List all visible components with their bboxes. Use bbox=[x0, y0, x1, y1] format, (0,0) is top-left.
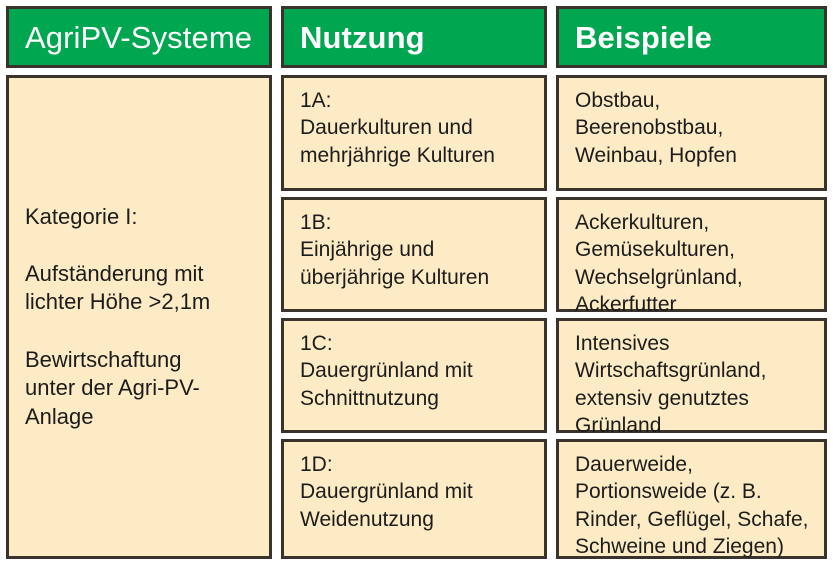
examples-text-1a: Obstbau, Beerenobstbau, Weinbau, Hopfen bbox=[559, 78, 824, 169]
header-label-nutzung: Nutzung bbox=[284, 22, 425, 53]
table-row-1c-examples-cell: Intensives Wirtschaftsgrünland, extensiv… bbox=[556, 318, 827, 433]
usage-text-1c: 1C: Dauergrünland mit Schnittnutzung bbox=[284, 321, 544, 412]
examples-text-1d: Dauerweide, Portionsweide (z. B. Rinder,… bbox=[559, 442, 824, 560]
table-row-1a-usage-cell: 1A: Dauerkulturen und mehrjährige Kultur… bbox=[281, 75, 547, 191]
table-row-1d-usage-cell: 1D: Dauergrünland mit Weidenutzung bbox=[281, 439, 547, 559]
header-label-beispiele: Beispiele bbox=[559, 22, 712, 53]
table-row-1b-usage-cell: 1B: Einjährige und überjährige Kulturen bbox=[281, 197, 547, 312]
header-cell-beispiele: Beispiele bbox=[556, 6, 827, 68]
usage-text-1d: 1D: Dauergrünland mit Weidenutzung bbox=[284, 442, 544, 533]
usage-text-1b: 1B: Einjährige und überjährige Kulturen bbox=[284, 200, 544, 291]
examples-text-1b: Ackerkulturen, Gemüsekulturen, Wechselgr… bbox=[559, 200, 824, 318]
usage-text-1a: 1A: Dauerkulturen und mehrjährige Kultur… bbox=[284, 78, 544, 169]
examples-text-1c: Intensives Wirtschaftsgrünland, extensiv… bbox=[559, 321, 824, 439]
table-row-1b-examples-cell: Ackerkulturen, Gemüsekulturen, Wechselgr… bbox=[556, 197, 827, 312]
category-cell-kategorie-1: Kategorie I: Aufständerung mit lichter H… bbox=[6, 75, 272, 559]
category-cell-text: Kategorie I: Aufständerung mit lichter H… bbox=[9, 203, 224, 432]
header-cell-agripv-systeme: AgriPV-Systeme bbox=[6, 6, 272, 68]
header-label-agripv-systeme: AgriPV-Systeme bbox=[9, 22, 252, 53]
table-row-1d-examples-cell: Dauerweide, Portionsweide (z. B. Rinder,… bbox=[556, 439, 827, 559]
table-row-1c-usage-cell: 1C: Dauergrünland mit Schnittnutzung bbox=[281, 318, 547, 433]
table-row-1a-examples-cell: Obstbau, Beerenobstbau, Weinbau, Hopfen bbox=[556, 75, 827, 191]
header-cell-nutzung: Nutzung bbox=[281, 6, 547, 68]
agripv-category-table: AgriPV-Systeme Nutzung Beispiele Kategor… bbox=[0, 0, 833, 565]
